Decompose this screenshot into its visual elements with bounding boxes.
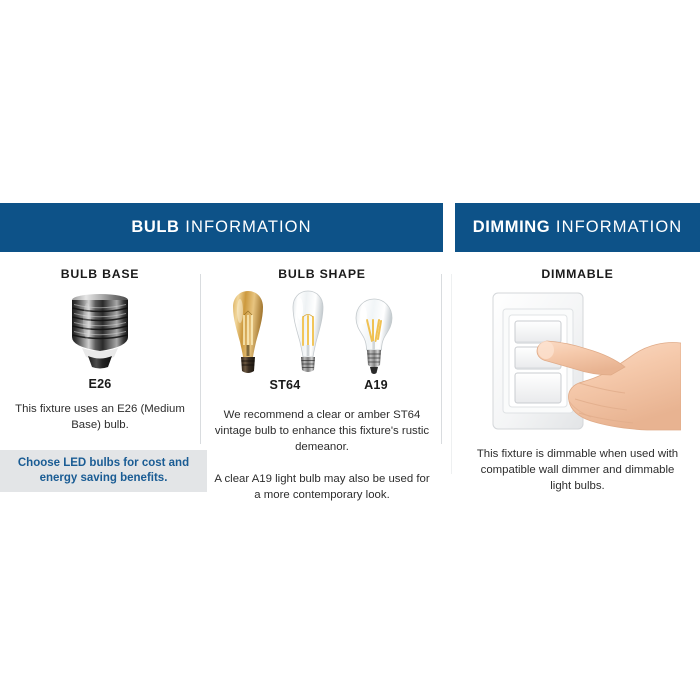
bulb-information-title: BULB INFORMATION: [131, 218, 311, 237]
bulb-base-label-row: E26: [0, 377, 200, 391]
st64-amber-bulb-icon: [225, 289, 271, 377]
wall-dimmer-switch-hand-icon: [475, 287, 681, 435]
bulb-base-column: BULB BASE: [0, 252, 200, 433]
column-divider-3: [451, 274, 452, 474]
bulb-information-title-bold: BULB: [131, 218, 179, 236]
banner-gap: [443, 203, 455, 252]
bulb-base-label: E26: [88, 377, 111, 391]
dimming-column: DIMMABLE: [455, 252, 700, 494]
dimming-information-title: DIMMING INFORMATION: [473, 218, 683, 237]
a19-clear-bulb-icon: [351, 297, 397, 377]
st64-clear-bulb-icon: [285, 289, 331, 377]
dimmable-heading: DIMMABLE: [455, 252, 700, 281]
e26-screw-base-icon: [63, 291, 137, 369]
bulb-shape-label-a19: A19: [346, 378, 406, 392]
product-info-panel: BULB INFORMATION DIMMING INFORMATION BUL…: [0, 0, 700, 700]
bulb-shape-illustration: [203, 285, 441, 377]
column-divider-2: [441, 274, 442, 444]
dimmer-illustration: [455, 287, 700, 435]
bulb-shape-description-1: We recommend a clear or amber ST64 vinta…: [203, 407, 441, 455]
dimming-information-banner: DIMMING INFORMATION: [455, 203, 700, 252]
dimmable-description: This fixture is dimmable when used with …: [455, 446, 700, 494]
led-callout-box: Choose LED bulbs for cost and energy sav…: [0, 450, 207, 492]
bulb-base-illustration: [0, 287, 200, 375]
bulb-information-banner: BULB INFORMATION: [0, 203, 443, 252]
bulb-shape-heading: BULB SHAPE: [203, 252, 441, 281]
led-callout-text: Choose LED bulbs for cost and energy sav…: [0, 456, 207, 487]
bulb-base-description: This fixture uses an E26 (Medium Base) b…: [0, 401, 200, 433]
bulb-shape-label-st64: ST64: [255, 378, 315, 392]
bulb-information-title-rest: INFORMATION: [185, 218, 311, 236]
bulb-base-heading: BULB BASE: [0, 252, 200, 281]
bulb-shape-label-row: ST64 A19: [203, 378, 441, 396]
banner-row: BULB INFORMATION DIMMING INFORMATION: [0, 203, 700, 252]
bulb-row: [203, 285, 441, 377]
bulb-shape-description-2: A clear A19 light bulb may also be used …: [203, 471, 441, 503]
bulb-shape-column: BULB SHAPE: [203, 252, 441, 503]
dimming-information-title-bold: DIMMING: [473, 218, 551, 236]
dimming-information-title-rest: INFORMATION: [556, 218, 682, 236]
column-divider-1: [200, 274, 201, 444]
